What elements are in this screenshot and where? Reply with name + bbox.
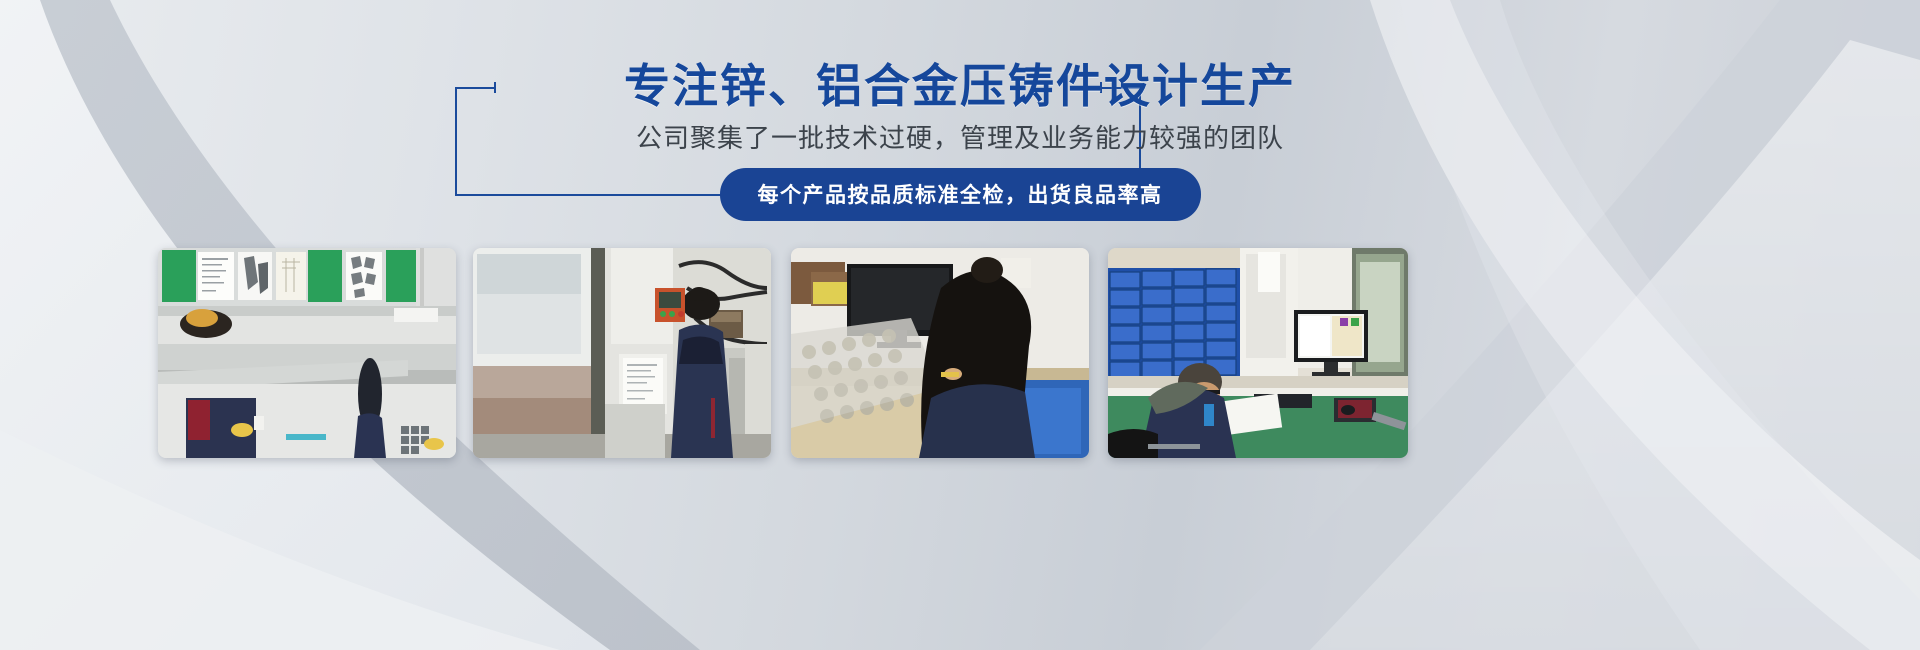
banner-subheadline: 公司聚集了一批技术过硬，管理及业务能力较强的团队 [0, 118, 1920, 158]
photo-packing-station-image [791, 248, 1089, 458]
photo-gallery [0, 248, 1920, 458]
photo-die-casting-machine[interactable] [473, 248, 771, 458]
banner-headline: 专注锌、铝合金压铸件设计生产 [0, 56, 1920, 116]
photo-measuring-room[interactable] [1108, 248, 1408, 458]
photo-packing-station[interactable] [791, 248, 1089, 458]
photo-inspection-bench-image [158, 248, 456, 458]
quality-badge: 每个产品按品质标准全检，出货良品率高 [720, 168, 1201, 221]
photo-inspection-bench[interactable] [158, 248, 456, 458]
photo-measuring-room-image [1108, 248, 1408, 458]
photo-die-casting-machine-image [473, 248, 771, 458]
banner-pill-wrapper: 每个产品按品质标准全检，出货良品率高 [0, 168, 1920, 221]
